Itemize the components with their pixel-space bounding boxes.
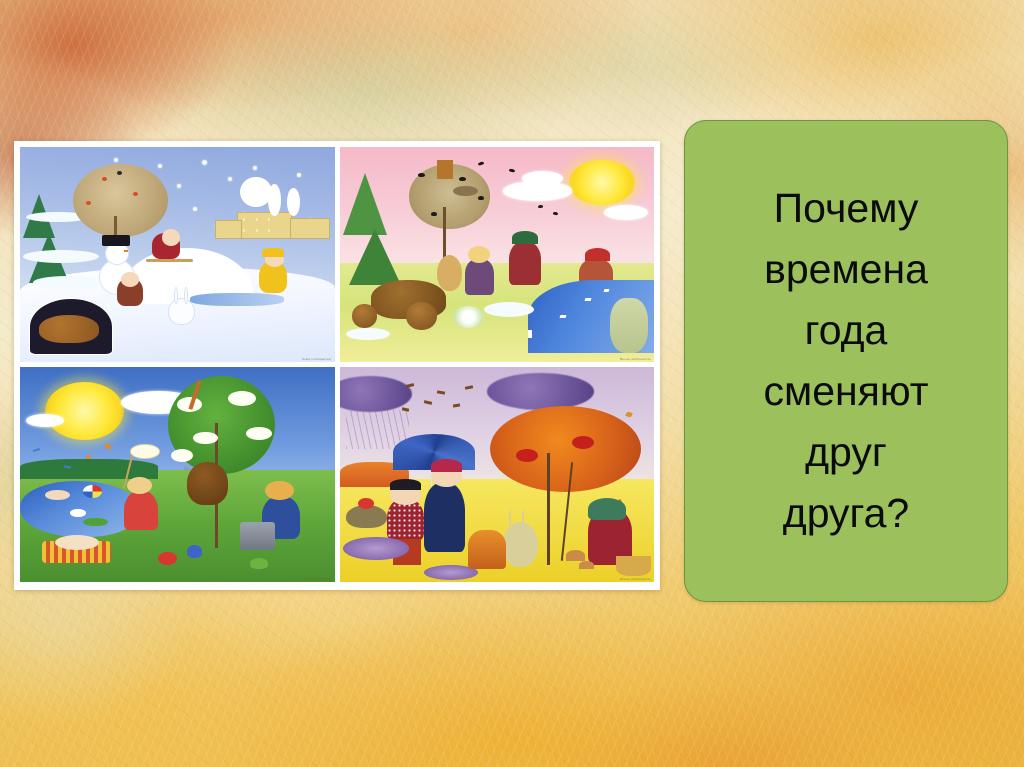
autumn-rowan-trunk: [547, 453, 550, 565]
summer-watering-can: [240, 522, 275, 550]
spring-green-beret: [512, 231, 537, 244]
spring-rook: [418, 173, 425, 177]
question-text: Почему времена года сменяют друг друга?: [750, 178, 943, 544]
autumn-green-hood: [588, 498, 626, 520]
spring-girl-with-willow: [465, 259, 493, 296]
season-panel-winter: Зима (собирается): [20, 147, 335, 362]
spring-bear-cub: [352, 304, 377, 328]
spring-birdhouse: [437, 160, 453, 179]
spring-hare: [437, 255, 462, 292]
winter-panel-caption: Зима (собирается): [302, 357, 331, 361]
spring-conifer-tree: [343, 173, 387, 235]
summer-sunbathing-girl: [55, 535, 99, 550]
spring-sun: [569, 160, 635, 205]
summer-strawberry: [158, 552, 177, 565]
autumn-panel-caption: Осень (собирается): [620, 577, 651, 581]
autumn-mushroom: [566, 550, 585, 561]
autumn-girl-red-hat: [431, 459, 462, 472]
winter-snowman-carrot-nose: [124, 250, 128, 252]
autumn-girl-with-umbrella: [424, 483, 465, 552]
summer-bear-cub-in-tree: [187, 462, 228, 505]
season-panel-spring: Весна (собирается): [340, 147, 655, 362]
autumn-mushroom-basket: [616, 556, 651, 575]
summer-boy-hair: [265, 481, 293, 500]
spring-snowdrops: [453, 306, 484, 328]
winter-snowman-hat: [102, 235, 130, 246]
summer-sun: [45, 382, 124, 440]
summer-girl-with-net: [124, 490, 159, 531]
winter-village-house: [237, 212, 292, 240]
spring-willow-catkins: [610, 298, 648, 354]
spring-toy-sailboat: [528, 330, 532, 338]
season-panel-summer: Лето (собирается): [20, 367, 335, 582]
winter-chimney-smoke: [240, 177, 271, 207]
autumn-rowan-tree-crown: [490, 406, 641, 492]
summer-bluebell: [187, 545, 203, 558]
winter-bullfinch-bird: [102, 177, 107, 181]
autumn-hare: [503, 522, 538, 567]
question-card: Почему времена года сменяют друг друга?: [684, 120, 1008, 602]
autumn-boy-black-cap: [390, 479, 421, 490]
autumn-rowan-berries: [516, 449, 538, 462]
summer-distant-forest: [20, 459, 158, 478]
winter-sled: [146, 259, 193, 262]
spring-red-cap: [585, 248, 610, 261]
summer-frog: [250, 558, 269, 569]
spring-paper-boat: [584, 298, 591, 301]
summer-beach-ball: [83, 485, 102, 498]
seasons-collage-grid: Зима (собирается): [20, 147, 654, 582]
winter-sleeping-bear: [39, 315, 99, 343]
summer-lily-pad: [83, 518, 108, 527]
seasons-collage-image: Зима (собирается): [14, 141, 660, 590]
autumn-apple: [358, 498, 374, 509]
slide-canvas: Зима (собирается): [0, 0, 1024, 767]
season-panel-autumn: Осень (собирается): [340, 367, 655, 582]
spring-boy-green-beret: [509, 242, 540, 285]
summer-butterfly: [105, 444, 111, 449]
autumn-bush: [468, 530, 506, 569]
summer-panel-caption: Лето (собирается): [303, 577, 332, 581]
spring-panel-caption: Весна (собирается): [620, 357, 651, 361]
winter-frozen-river: [190, 293, 284, 306]
